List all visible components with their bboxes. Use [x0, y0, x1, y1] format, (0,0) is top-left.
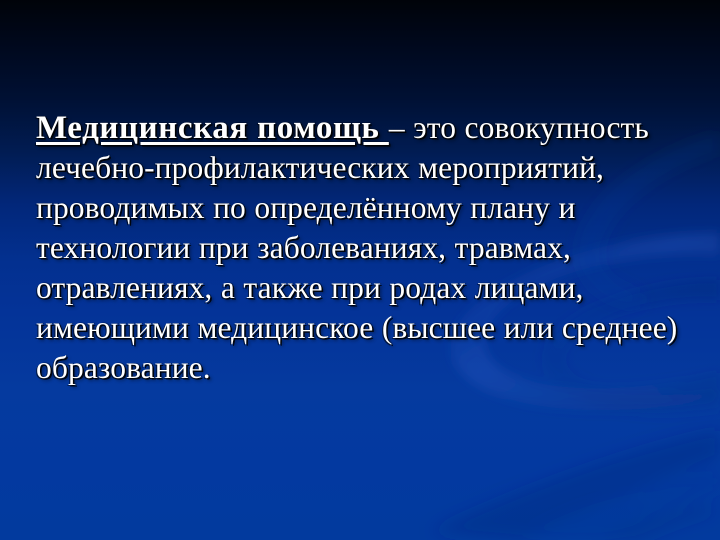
definition-text: – это совокупность лечебно-профилактичес… — [36, 110, 677, 385]
defined-term: Медицинская помощь — [36, 110, 389, 146]
slide-canvas: Медицинская помощь – это совокупность ле… — [0, 0, 720, 540]
slide-text-block: Медицинская помощь – это совокупность ле… — [36, 108, 692, 388]
definition-paragraph: Медицинская помощь – это совокупность ле… — [36, 108, 692, 388]
